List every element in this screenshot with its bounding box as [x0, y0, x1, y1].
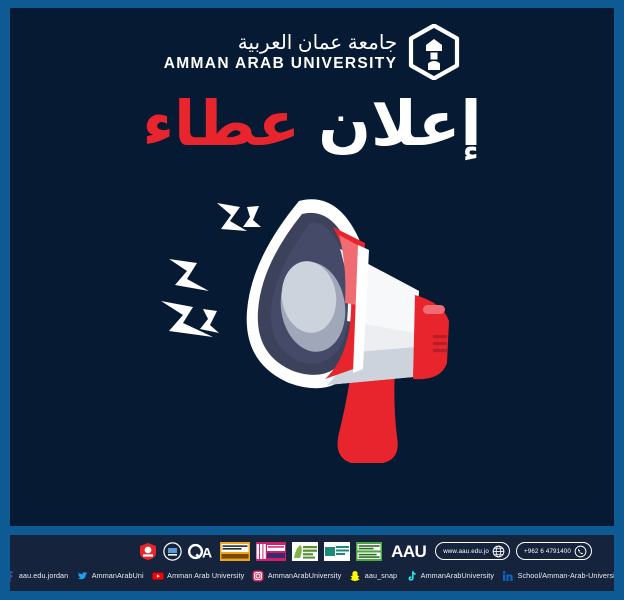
poster-inner-frame: جامعة عمان العربية AMMAN ARAB UNIVERSITY…: [10, 8, 614, 591]
accreditation-badge-circle-icon: [163, 542, 182, 561]
phone-pill[interactable]: +962 6 4791400: [516, 542, 592, 560]
social-link-youtube[interactable]: Amman Arab University: [152, 570, 245, 582]
social-link-twitter[interactable]: AmmanArabUni: [76, 570, 143, 582]
university-logo-text: جامعة عمان العربية AMMAN ARAB UNIVERSITY: [164, 33, 398, 72]
svg-text:A: A: [202, 544, 212, 560]
facebook-icon: [10, 570, 15, 582]
social-link-tiktok[interactable]: AmmanArabUniversity: [405, 570, 494, 582]
youtube-icon: [152, 570, 164, 582]
website-label: www.aau.edu.jo: [443, 548, 489, 555]
social-link-linkedin[interactable]: School/Amman-Arab-University: [502, 570, 614, 582]
tiktok-icon: [405, 570, 417, 582]
accreditation-badge-teal-icon: [324, 542, 350, 561]
announcement-poster: جامعة عمان العربية AMMAN ARAB UNIVERSITY…: [0, 0, 624, 600]
university-name-english: AMMAN ARAB UNIVERSITY: [164, 56, 398, 72]
accreditation-badge-green-icon: [356, 542, 382, 561]
globe-icon: [492, 545, 505, 558]
megaphone-illustration-icon: [147, 187, 477, 479]
footer-divider: [10, 526, 614, 535]
facebook-handle: aau.edu.jordan: [19, 572, 68, 579]
website-pill[interactable]: www.aau.edu.jo: [435, 542, 510, 560]
twitter-handle: AmmanArabUni: [92, 572, 144, 579]
instagram-icon: [252, 570, 264, 582]
page-title: إعلان عطاء: [10, 92, 614, 161]
title-word-ataa: عطاء: [142, 92, 300, 157]
accreditation-badge-ranking-orange-icon: [220, 542, 250, 561]
phone-label: +962 6 4791400: [524, 548, 571, 555]
header-logo-block: جامعة عمان العربية AMMAN ARAB UNIVERSITY: [10, 8, 614, 90]
footer-bar: A: [10, 535, 614, 591]
accreditation-badge-umultirank-icon: [292, 542, 318, 561]
tiktok-handle: AmmanArabUniversity: [421, 572, 494, 579]
hexagon-shield-logo-icon: [408, 24, 460, 80]
phone-icon: [574, 545, 587, 558]
accreditation-badge-the-pink-icon: [256, 542, 286, 561]
linkedin-handle: School/Amman-Arab-University: [518, 572, 614, 579]
social-link-facebook[interactable]: aau.edu.jordan: [10, 570, 68, 582]
university-name-arabic: جامعة عمان العربية: [238, 33, 398, 53]
social-link-snapchat[interactable]: aau_snap: [349, 570, 397, 582]
social-media-row: aau.edu.jordan AmmanArabUni Amman Arab U…: [24, 566, 600, 586]
social-link-instagram[interactable]: AmmanArabUniversity: [252, 570, 341, 582]
youtube-handle: Amman Arab University: [167, 572, 244, 579]
instagram-handle: AmmanArabUniversity: [268, 572, 341, 579]
twitter-icon: [76, 570, 88, 582]
title-word-ilaan: إعلان: [318, 92, 482, 157]
accreditation-badge-qa-icon: A: [188, 542, 214, 561]
accreditation-badge-shield-icon: [139, 542, 157, 561]
snapchat-icon: [349, 570, 361, 582]
accreditation-badge-row: A: [24, 539, 600, 563]
artwork-area: [10, 161, 614, 526]
aau-wordmark: AAU: [388, 543, 429, 560]
snapchat-handle: aau_snap: [365, 572, 397, 579]
linkedin-icon: [502, 570, 514, 582]
